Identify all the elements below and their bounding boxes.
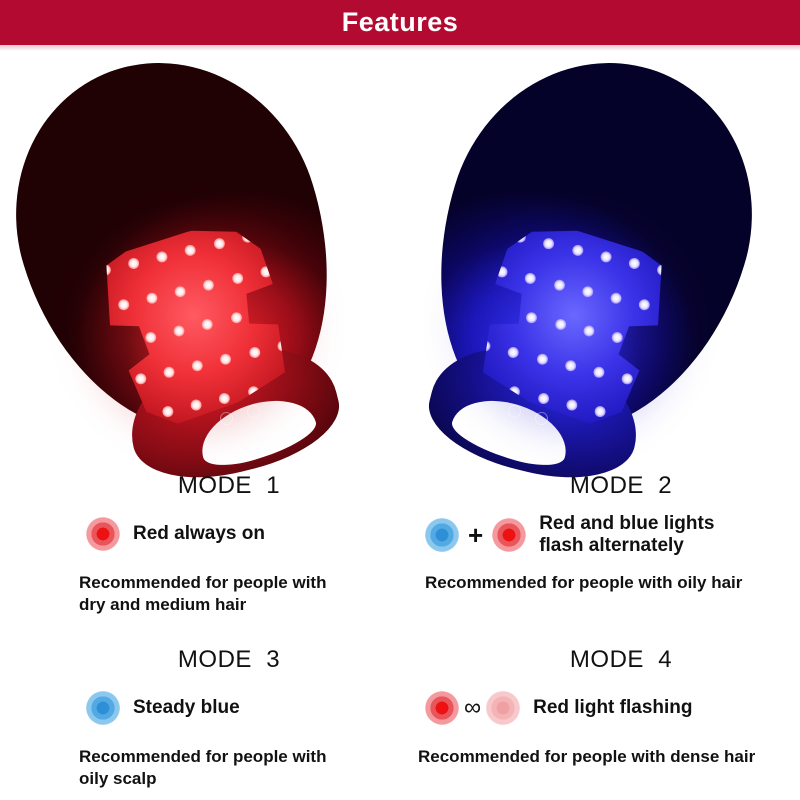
led-dot bbox=[599, 250, 612, 263]
blue-light-therapy-cap-image bbox=[400, 52, 760, 472]
plus-operator-icon: + bbox=[468, 522, 483, 548]
header-fade-divider bbox=[0, 45, 800, 51]
mode-1-block: MODE 1 Red always on Recommended for peo… bbox=[0, 474, 400, 617]
mode-2-block: MODE 2 + Red and blue lights flash alter… bbox=[400, 474, 800, 594]
led-dot bbox=[191, 359, 204, 372]
mode-2-icon-row: + Red and blue lights flash alternately bbox=[400, 513, 800, 558]
infinity-operator-icon: ∞ bbox=[464, 696, 481, 720]
led-dot bbox=[564, 359, 577, 372]
mode-3-label: Steady blue bbox=[133, 697, 240, 719]
led-dot bbox=[163, 366, 176, 379]
led-dot bbox=[155, 250, 168, 263]
led-dot bbox=[537, 392, 550, 405]
led-dot bbox=[592, 366, 605, 379]
red-lamp-icon bbox=[492, 518, 526, 552]
led-dot bbox=[117, 298, 130, 311]
led-dot bbox=[611, 331, 624, 344]
mode-2-description: Recommended for people with oily hair bbox=[400, 572, 800, 594]
mode-4-icon-row: ∞ Red light flashing bbox=[400, 691, 800, 725]
led-dot bbox=[201, 318, 214, 331]
mode-3-title: MODE 3 bbox=[0, 648, 400, 672]
led-dot bbox=[609, 291, 622, 304]
led-dot bbox=[554, 318, 567, 331]
mode-3-icons bbox=[86, 691, 120, 725]
led-dot bbox=[565, 399, 578, 412]
mode-3-description-line-1: Recommended for people with bbox=[79, 746, 400, 768]
mode-1-icon-row: Red always on bbox=[0, 517, 400, 551]
mode-4-title: MODE 4 bbox=[400, 648, 800, 672]
led-dot bbox=[145, 291, 158, 304]
led-dot bbox=[134, 372, 147, 385]
led-dot bbox=[218, 392, 231, 405]
mode-4-description-line-1: Recommended for people with dense hair bbox=[418, 746, 800, 768]
led-dot bbox=[638, 298, 651, 311]
led-dot bbox=[144, 331, 157, 344]
led-dot bbox=[219, 353, 232, 366]
mode-4-label: Red light flashing bbox=[533, 697, 692, 719]
mode-2-label-line-2: flash alternately bbox=[539, 535, 714, 557]
led-dot bbox=[463, 453, 476, 466]
led-dot bbox=[229, 311, 242, 324]
led-dot bbox=[628, 256, 641, 269]
product-photo-row bbox=[0, 52, 800, 472]
led-dot bbox=[524, 272, 537, 285]
mode-2-label: Red and blue lights flash alternately bbox=[539, 513, 714, 558]
mode-1-description: Recommended for people with dry and medi… bbox=[0, 572, 400, 617]
mode-1-description-line-1: Recommended for people with bbox=[79, 572, 400, 594]
mode-3-block: MODE 3 Steady blue Recommended for peopl… bbox=[0, 648, 400, 791]
led-dot bbox=[581, 285, 594, 298]
mode-3-description-line-2: oily scalp bbox=[79, 768, 400, 790]
led-dot bbox=[127, 256, 140, 269]
mode-1-description-line-2: dry and medium hair bbox=[79, 594, 400, 616]
led-dot bbox=[174, 285, 187, 298]
led-dot bbox=[525, 311, 538, 324]
led-dot bbox=[553, 278, 566, 291]
mode-3-icon-row: Steady blue bbox=[0, 691, 400, 725]
mode-2-icons: + bbox=[425, 518, 526, 552]
led-dot bbox=[173, 324, 186, 337]
led-dot bbox=[543, 237, 556, 250]
mode-2-title: MODE 2 bbox=[400, 474, 800, 498]
features-header-banner: Features bbox=[0, 0, 800, 45]
red-lamp-dim-icon bbox=[486, 691, 520, 725]
mode-4-description: Recommended for people with dense hair bbox=[400, 746, 800, 768]
mode-3-description: Recommended for people with oily scalp bbox=[0, 746, 400, 791]
page-title: Features bbox=[342, 9, 459, 36]
led-dot bbox=[248, 346, 261, 359]
led-dot bbox=[184, 243, 197, 256]
led-dot bbox=[507, 346, 520, 359]
mode-1-title: MODE 1 bbox=[0, 474, 400, 498]
led-dot bbox=[190, 399, 203, 412]
led-dot bbox=[161, 405, 174, 418]
blue-lamp-icon bbox=[86, 691, 120, 725]
led-dot bbox=[535, 353, 548, 366]
led-dot bbox=[202, 278, 215, 291]
led-dot bbox=[212, 237, 225, 250]
led-dot bbox=[582, 324, 595, 337]
mode-4-icons: ∞ bbox=[425, 691, 520, 725]
mode-1-label: Red always on bbox=[133, 523, 265, 545]
led-dot bbox=[571, 243, 584, 256]
mode-4-block: MODE 4 ∞ Red light flashing Recommended … bbox=[400, 648, 800, 768]
blue-lamp-icon bbox=[425, 518, 459, 552]
led-dot bbox=[231, 272, 244, 285]
mode-1-icons bbox=[86, 517, 120, 551]
red-light-therapy-cap-image bbox=[8, 52, 368, 472]
led-dot bbox=[621, 372, 634, 385]
led-dot bbox=[292, 453, 305, 466]
red-lamp-icon bbox=[86, 517, 120, 551]
led-dot bbox=[593, 405, 606, 418]
mode-2-label-line-1: Red and blue lights bbox=[539, 513, 714, 535]
red-lamp-icon bbox=[425, 691, 459, 725]
mode-2-description-line-1: Recommended for people with oily hair bbox=[425, 572, 800, 594]
